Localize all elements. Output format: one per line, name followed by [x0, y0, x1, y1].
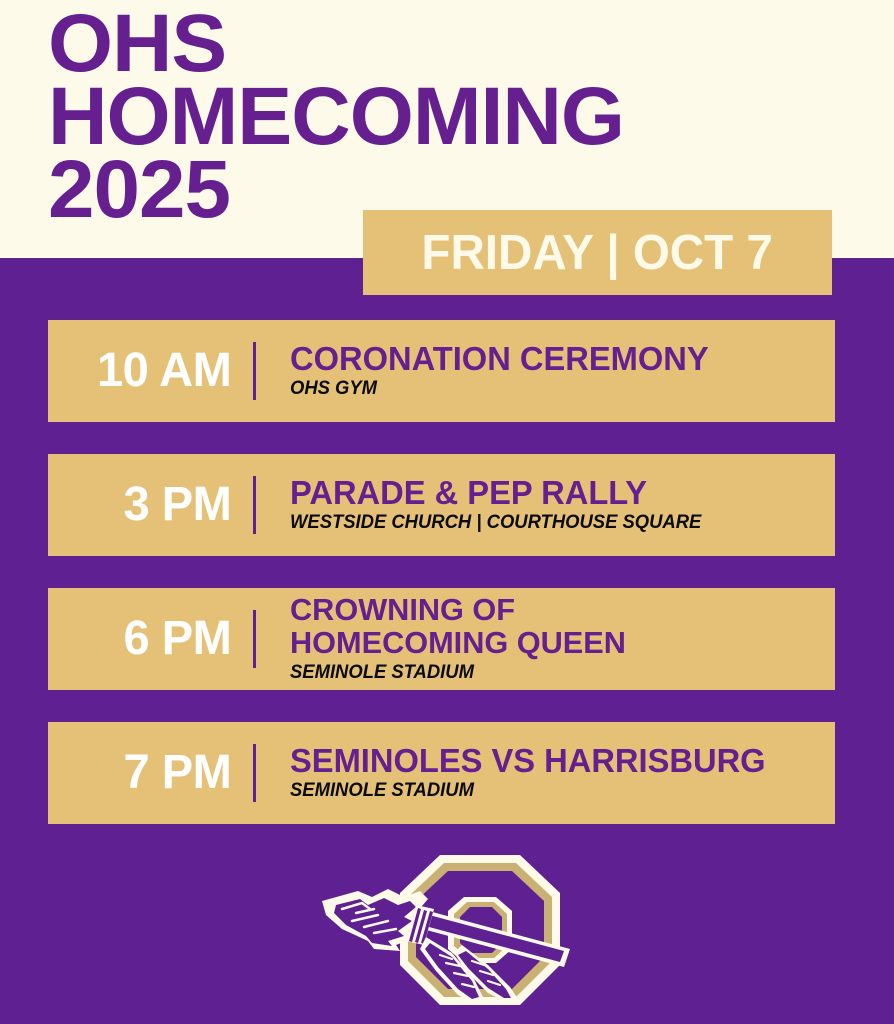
- schedule-row-coronation[interactable]: 10 AM CORONATION CEREMONY OHS GYM: [48, 320, 835, 422]
- event-info: CROWNING OFHOMECOMING QUEEN SEMINOLE STA…: [256, 594, 835, 684]
- event-info: CORONATION CEREMONY OHS GYM: [256, 342, 835, 401]
- ohs-seminoles-o-spear-icon: [312, 853, 582, 1013]
- school-logo: [0, 850, 894, 1015]
- event-title: SEMINOLES VS HARRISBURG: [290, 744, 830, 778]
- event-location: WESTSIDE CHURCH | COURTHOUSE SQUARE: [290, 512, 819, 534]
- event-title-line1: CROWNING OF: [290, 592, 515, 627]
- poster-title: OHS HOMECOMING 2025: [48, 10, 848, 225]
- event-time: 10 AM: [50, 347, 251, 395]
- event-title: CORONATION CEREMONY: [290, 342, 830, 376]
- schedule-list: 10 AM CORONATION CEREMONY OHS GYM 3 PM P…: [48, 320, 835, 856]
- event-location: OHS GYM: [290, 378, 819, 400]
- event-title: PARADE & PEP RALLY: [290, 476, 830, 510]
- event-info: SEMINOLES VS HARRISBURG SEMINOLE STADIUM: [256, 744, 835, 803]
- title-line-homecoming: HOMECOMING: [48, 83, 852, 152]
- schedule-row-game[interactable]: 7 PM SEMINOLES VS HARRISBURG SEMINOLE ST…: [48, 722, 835, 824]
- title-line-ohs: OHS: [48, 10, 864, 79]
- event-time: 7 PM: [50, 749, 251, 797]
- event-location: SEMINOLE STADIUM: [290, 780, 819, 802]
- date-banner-text: FRIDAY | OCT 7: [422, 225, 773, 281]
- event-time: 6 PM: [50, 615, 251, 663]
- schedule-row-crowning[interactable]: 6 PM CROWNING OFHOMECOMING QUEEN SEMINOL…: [48, 588, 835, 690]
- date-banner: FRIDAY | OCT 7: [363, 210, 832, 295]
- event-title: CROWNING OFHOMECOMING QUEEN: [290, 594, 830, 659]
- schedule-row-parade[interactable]: 3 PM PARADE & PEP RALLY WESTSIDE CHURCH …: [48, 454, 835, 556]
- event-info: PARADE & PEP RALLY WESTSIDE CHURCH | COU…: [256, 476, 835, 535]
- event-title-line2: HOMECOMING QUEEN: [290, 625, 626, 660]
- event-time: 3 PM: [50, 481, 251, 529]
- homecoming-poster: OHS HOMECOMING 2025 FRIDAY | OCT 7 10 AM…: [0, 0, 894, 1024]
- event-location: SEMINOLE STADIUM: [290, 662, 819, 684]
